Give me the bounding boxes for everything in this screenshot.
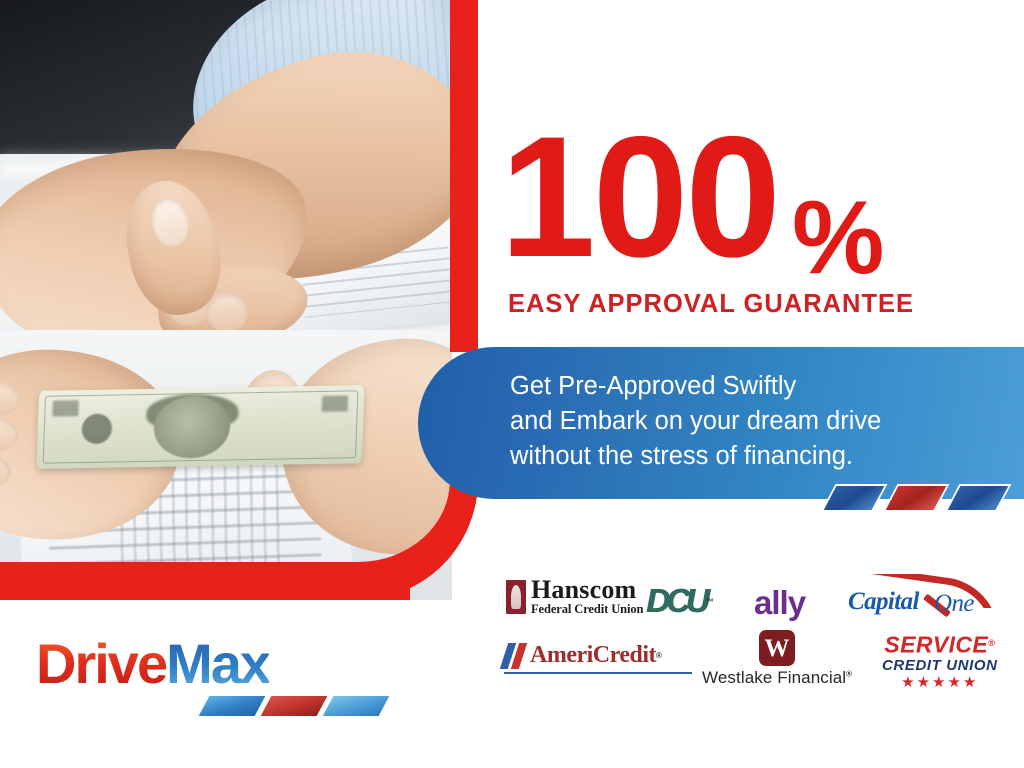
red-vertical-divider <box>450 0 478 352</box>
service-credit-union-words: CREDIT UNION <box>882 657 998 675</box>
chevron-icon <box>323 696 390 716</box>
drivemax-logo: DriveMax <box>36 636 376 736</box>
logo-capital-one: Capital One <box>848 576 998 620</box>
headline-subtext: EASY APPROVAL GUARANTEE <box>508 290 938 319</box>
headline-block: 100 % <box>500 108 920 298</box>
headline-number: 100 <box>500 101 778 293</box>
hanscom-tagline: Federal Credit Union <box>531 602 643 616</box>
service-stars-icon: ★★★★★ <box>901 675 978 690</box>
promo-banner-text: Get Pre-Approved Swiftly and Embark on y… <box>510 369 980 474</box>
capital-one-capital-word: Capital <box>848 588 919 616</box>
chevron-icon <box>261 696 328 716</box>
promo-line-3: without the stress of financing. <box>510 439 980 474</box>
promo-line-2: and Embark on your dream drive <box>510 404 980 439</box>
headline-percent-symbol: % <box>792 186 884 290</box>
americredit-registered-mark: ® <box>656 651 662 660</box>
brand-word-drive: Drive <box>36 632 166 695</box>
chevron-icon <box>821 484 888 512</box>
chevron-icon <box>945 484 1012 512</box>
logo-americredit: AmeriCredit ® <box>504 642 662 669</box>
red-frame-corner <box>0 444 478 600</box>
dcu-trademark: ™ <box>706 597 714 606</box>
chevron-decoration <box>828 484 1008 514</box>
westlake-w-letter: W <box>765 636 790 661</box>
handshake-photo <box>0 0 452 330</box>
logo-dcu: DCU ™ <box>646 582 714 620</box>
brand-chevron-group <box>204 696 384 718</box>
americredit-underline <box>504 672 692 674</box>
capital-one-one-word: One <box>934 590 974 618</box>
americredit-name: AmeriCredit <box>530 642 656 669</box>
lender-logo-row: Hanscom Federal Credit Union DCU ™ ally … <box>496 570 1016 700</box>
logo-hanscom: Hanscom Federal Credit Union <box>506 578 643 616</box>
logo-ally: ally <box>754 584 805 622</box>
westlake-w-icon: W <box>759 630 795 666</box>
hanscom-minuteman-icon <box>506 580 526 614</box>
hanscom-name: Hanscom <box>531 578 643 602</box>
bill-seal <box>81 414 112 445</box>
logo-westlake-financial: W Westlake Financial® <box>702 630 852 688</box>
chevron-icon <box>199 696 266 716</box>
advertisement-banner: 100 % EASY APPROVAL GUARANTEE Get Pre-Ap… <box>0 0 1024 768</box>
chevron-icon <box>883 484 950 512</box>
promo-line-1: Get Pre-Approved Swiftly <box>510 369 980 404</box>
westlake-name: Westlake Financial <box>702 668 846 687</box>
promo-banner: Get Pre-Approved Swiftly and Embark on y… <box>418 347 1024 499</box>
bill-corner-number <box>322 395 349 411</box>
ally-name: ally <box>754 584 805 622</box>
service-registered-mark: ® <box>988 638 995 648</box>
bill-corner-number <box>52 400 79 416</box>
service-word: SERVICE <box>884 631 988 657</box>
dcu-name: DCU <box>646 582 706 620</box>
logo-service-credit-union: SERVICE® CREDIT UNION ★★★★★ <box>882 632 998 690</box>
brand-word-max: Max <box>166 632 269 695</box>
westlake-registered-mark: ® <box>846 670 852 679</box>
finger-shape <box>0 378 21 418</box>
